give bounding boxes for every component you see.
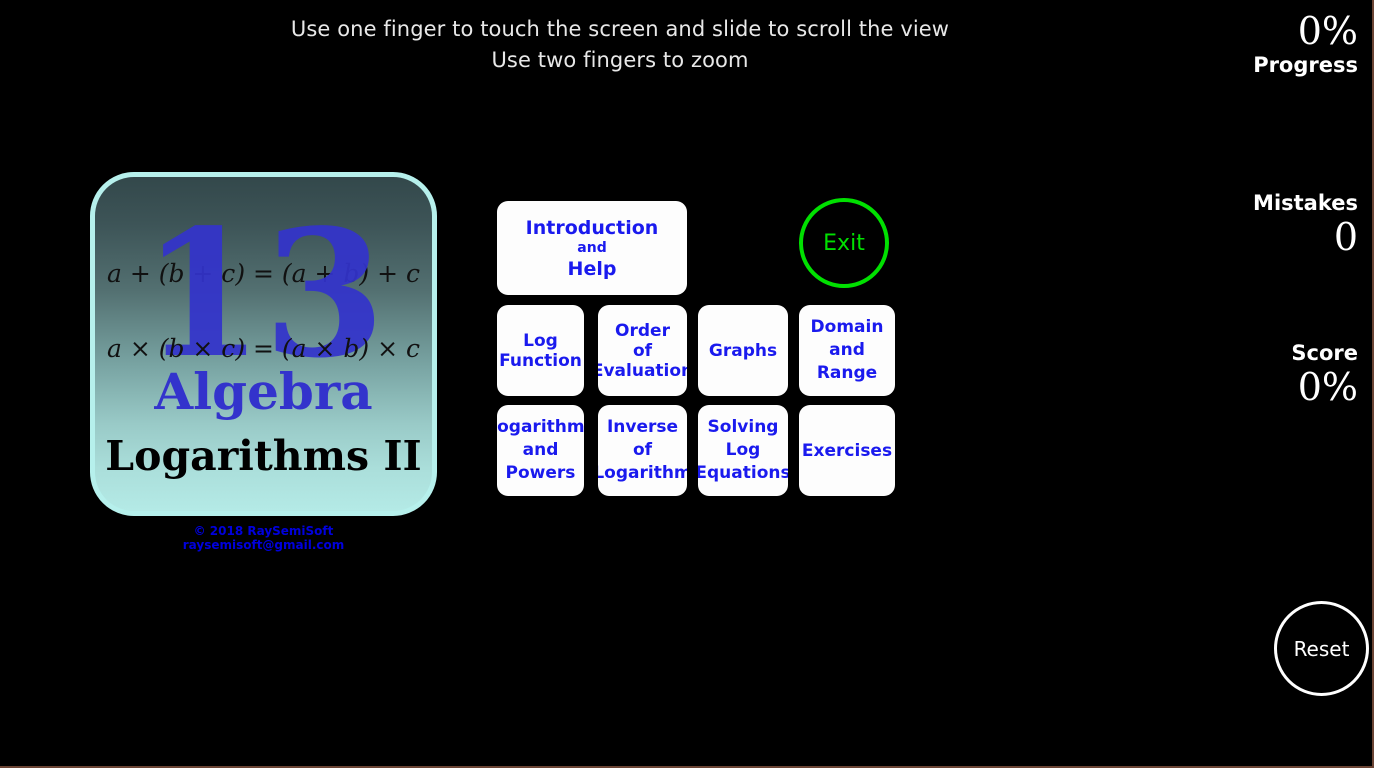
menu-button-domain-and-range[interactable]: Domain and Range: [799, 305, 895, 396]
menu-button-graphs[interactable]: Graphs: [698, 305, 788, 396]
copyright-block: © 2018 RaySemiSoft raysemisoft@gmail.com: [90, 524, 437, 552]
menu-label-line-3: Powers: [506, 462, 576, 485]
menu-button-logarithms-and-powers[interactable]: Logarithms and Powers: [497, 405, 584, 496]
mistakes-label: Mistakes: [1253, 190, 1358, 216]
menu-label-line-1: Inverse: [607, 416, 678, 439]
app-screen: Use one finger to touch the screen and s…: [0, 0, 1374, 768]
instructions-banner: Use one finger to touch the screen and s…: [0, 14, 1240, 76]
reset-button[interactable]: Reset: [1274, 601, 1369, 696]
menu-button-introduction-and-help[interactable]: Introduction and Help: [497, 201, 687, 295]
cover-card-wrapper: a + (b + c) = (a + b) + c 13 a × (b × c)…: [90, 172, 437, 552]
menu-label-line-1: Graphs: [709, 341, 777, 361]
menu-label-line-2: Function: [499, 351, 582, 371]
menu-label-line-1: Introduction: [526, 216, 659, 240]
reset-button-label: Reset: [1294, 637, 1350, 661]
menu-grid: Introduction and Help Exit Log Function …: [497, 201, 897, 501]
menu-button-order-of-evaluation[interactable]: Order of Evaluation: [598, 305, 687, 396]
exit-button-label: Exit: [823, 231, 865, 256]
menu-button-solving-log-equations[interactable]: Solving Log Equations: [698, 405, 788, 496]
score-stat: Score 0%: [1291, 340, 1358, 408]
mistakes-stat: Mistakes 0: [1253, 190, 1358, 258]
cover-equation-associative-multiplication: a × (b × c) = (a × b) × c: [95, 334, 432, 363]
menu-label-line-2: Log: [726, 439, 761, 462]
menu-label-line-2: and: [829, 339, 865, 362]
menu-label-line-2: of: [633, 341, 652, 361]
menu-label-line-3: Help: [568, 257, 617, 281]
menu-label-line-3: Logarithm: [598, 462, 687, 485]
menu-button-exercises[interactable]: Exercises: [799, 405, 895, 496]
progress-label: Progress: [1253, 52, 1358, 78]
menu-label-line-2: and: [523, 439, 559, 462]
menu-label-line-1: Solving: [708, 416, 779, 439]
copyright-line: © 2018 RaySemiSoft: [90, 524, 437, 538]
exit-button[interactable]: Exit: [799, 198, 889, 288]
menu-label-line-1: Order: [615, 321, 670, 341]
score-label: Score: [1291, 340, 1358, 366]
menu-label-line-1: Log: [523, 331, 558, 351]
instruction-line-1: Use one finger to touch the screen and s…: [0, 14, 1240, 45]
cover-card[interactable]: a + (b + c) = (a + b) + c 13 a × (b × c)…: [90, 172, 437, 516]
menu-label-line-3: Evaluation: [598, 361, 687, 381]
menu-label-line-3: Range: [817, 362, 877, 385]
menu-button-inverse-of-logarithm[interactable]: Inverse of Logarithm: [598, 405, 687, 496]
cover-subject: Algebra: [95, 363, 432, 421]
menu-label-line-1: Logarithms: [497, 416, 584, 439]
menu-label-line-3: Equations: [698, 462, 788, 485]
cover-title: Logarithms II: [95, 432, 432, 480]
menu-label-line-2: of: [633, 439, 652, 462]
progress-value: 0%: [1253, 10, 1358, 52]
menu-button-log-function[interactable]: Log Function: [497, 305, 584, 396]
menu-label-line-1: Exercises: [802, 441, 892, 461]
progress-stat: 0% Progress: [1253, 10, 1358, 78]
menu-label-line-1: Domain: [811, 316, 884, 339]
score-value: 0%: [1291, 366, 1358, 408]
mistakes-value: 0: [1253, 216, 1358, 258]
menu-label-line-2: and: [577, 240, 606, 257]
contact-email: raysemisoft@gmail.com: [90, 538, 437, 552]
instruction-line-2: Use two fingers to zoom: [0, 45, 1240, 76]
